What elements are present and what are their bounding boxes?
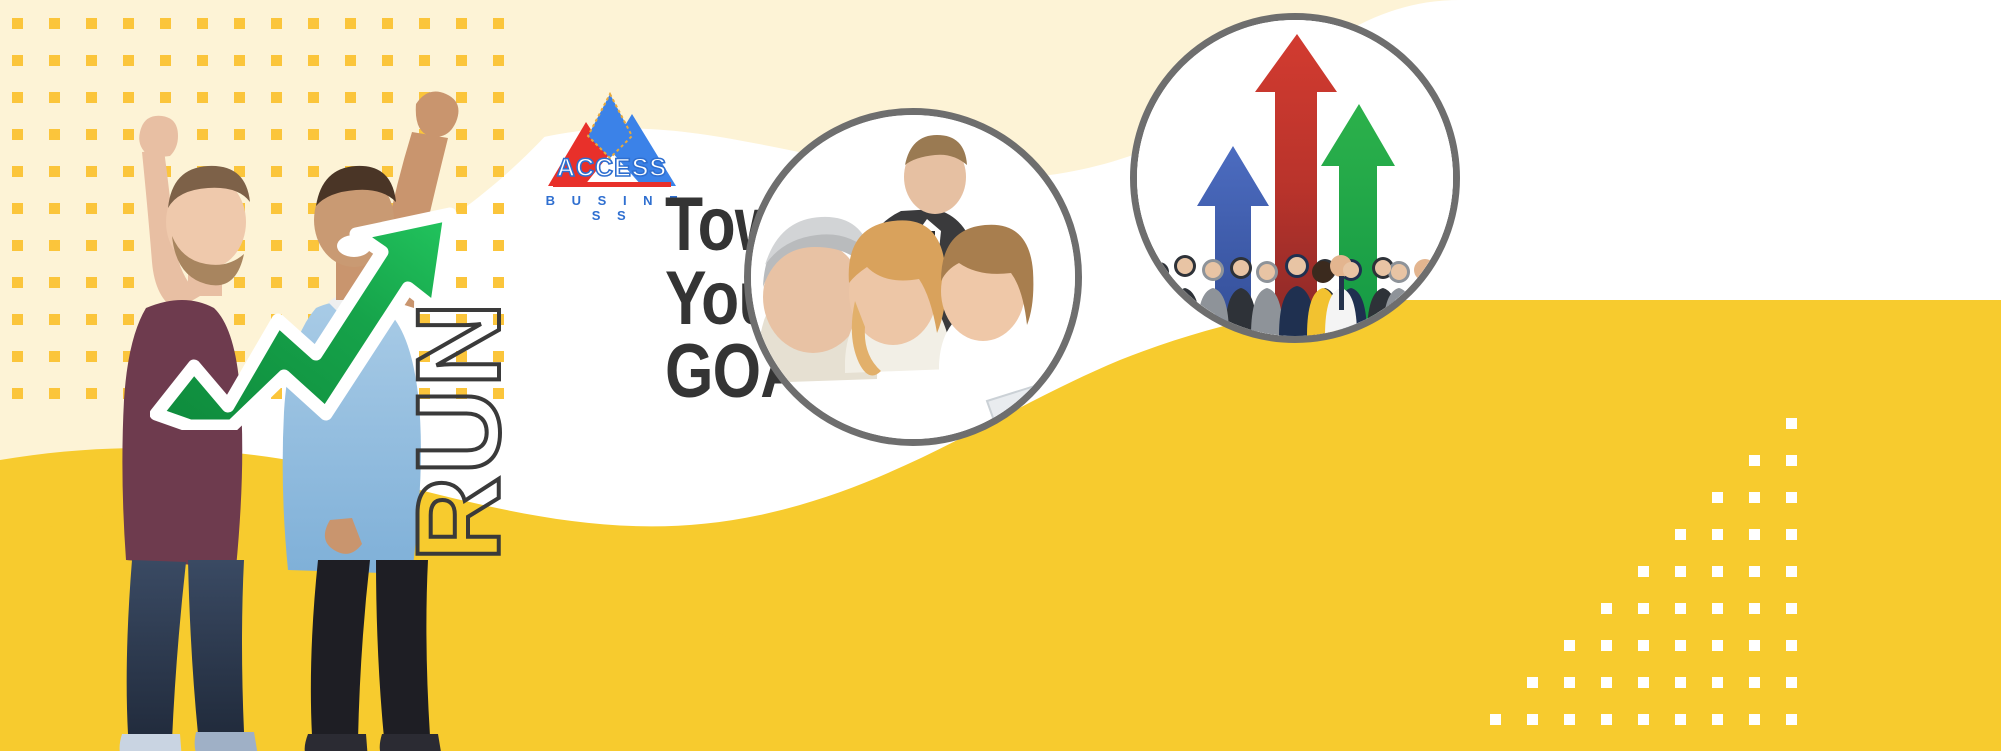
decorative-dot: [1564, 640, 1575, 651]
decorative-dot: [1638, 566, 1649, 577]
decorative-dot: [12, 55, 23, 66]
decorative-dot: [12, 18, 23, 29]
rotated-run-word: RUN: [400, 300, 518, 562]
decorative-dot: [12, 203, 23, 214]
decorative-dot: [1786, 603, 1797, 614]
decorative-dot: [308, 18, 319, 29]
logo-access-text: ACCESS: [536, 156, 688, 181]
decorative-dot: [1564, 677, 1575, 688]
decorative-dot: [1749, 603, 1760, 614]
decorative-dot: [1675, 529, 1686, 540]
decorative-dot: [1638, 677, 1649, 688]
decorative-dot: [234, 18, 245, 29]
decorative-dot: [1786, 455, 1797, 466]
decorative-dot: [12, 166, 23, 177]
decorative-dot: [493, 240, 504, 251]
decorative-dot: [1786, 492, 1797, 503]
decorative-dot: [49, 203, 60, 214]
decorative-dot: [1527, 677, 1538, 688]
decorative-dot: [1675, 714, 1686, 725]
decorative-dot: [1786, 714, 1797, 725]
decorative-dot: [1712, 529, 1723, 540]
decorative-dot: [1712, 603, 1723, 614]
decorative-dot: [493, 203, 504, 214]
decorative-dot: [12, 351, 23, 362]
decorative-dot: [1675, 677, 1686, 688]
decorative-dot: [1675, 640, 1686, 651]
decorative-dot: [49, 55, 60, 66]
decorative-dot: [456, 18, 467, 29]
decorative-dot: [49, 351, 60, 362]
decorative-dot: [1638, 640, 1649, 651]
decorative-dot: [49, 277, 60, 288]
decorative-dot: [1601, 677, 1612, 688]
decorative-dot: [1638, 603, 1649, 614]
decorative-dot: [1749, 566, 1760, 577]
decorative-dot: [1712, 714, 1723, 725]
decorative-dot: [493, 129, 504, 140]
decorative-dot: [12, 240, 23, 251]
decorative-dot: [12, 388, 23, 399]
decorative-dot: [49, 166, 60, 177]
decorative-dot: [493, 92, 504, 103]
decorative-dot: [1712, 640, 1723, 651]
decorative-dot: [1749, 714, 1760, 725]
decorative-dot: [1749, 455, 1760, 466]
decorative-dot: [1527, 714, 1538, 725]
decorative-dot: [493, 55, 504, 66]
decorative-dot: [493, 18, 504, 29]
circle-photo-team-meeting: [744, 108, 1082, 446]
decorative-dot: [1712, 492, 1723, 503]
decorative-dot: [12, 92, 23, 103]
decorative-dot: [1601, 640, 1612, 651]
decorative-dot: [197, 18, 208, 29]
decorative-dot: [493, 166, 504, 177]
decorative-dot: [1786, 529, 1797, 540]
decorative-dot: [49, 388, 60, 399]
decorative-dot: [1638, 714, 1649, 725]
decorative-dot: [49, 240, 60, 251]
decorative-dot: [123, 18, 134, 29]
growth-arrows-illustration: [1137, 20, 1453, 336]
decorative-dot: [49, 92, 60, 103]
decorative-dot: [160, 18, 171, 29]
white-dot-grid: [1330, 400, 2001, 751]
decorative-dot: [86, 18, 97, 29]
decorative-dot: [1786, 418, 1797, 429]
decorative-dot: [1786, 640, 1797, 651]
decorative-dot: [49, 314, 60, 325]
decorative-dot: [1749, 640, 1760, 651]
decorative-dot: [12, 129, 23, 140]
decorative-dot: [1749, 677, 1760, 688]
decorative-dot: [49, 129, 60, 140]
decorative-dot: [419, 18, 430, 29]
team-meeting-illustration: [751, 115, 1075, 439]
decorative-dot: [1601, 714, 1612, 725]
decorative-dot: [1786, 566, 1797, 577]
decorative-dot: [1712, 677, 1723, 688]
logo-red-underline: [553, 182, 671, 187]
decorative-dot: [1749, 492, 1760, 503]
decorative-dot: [493, 277, 504, 288]
decorative-dot: [1490, 714, 1501, 725]
decorative-dot: [1564, 714, 1575, 725]
decorative-dot: [12, 277, 23, 288]
decorative-dot: [345, 18, 356, 29]
marketing-banner: ACCESS B U S I N E S S RUN Towards Your …: [0, 0, 2001, 751]
decorative-dot: [12, 314, 23, 325]
decorative-dot: [1712, 566, 1723, 577]
decorative-dot: [1786, 677, 1797, 688]
decorative-dot: [1675, 603, 1686, 614]
decorative-dot: [382, 18, 393, 29]
decorative-dot: [1601, 603, 1612, 614]
decorative-dot: [49, 18, 60, 29]
decorative-dot: [1675, 566, 1686, 577]
decorative-dot: [1749, 529, 1760, 540]
business-crowd-row: [1145, 254, 1441, 336]
decorative-dot: [271, 18, 282, 29]
circle-photo-growth-arrows: [1130, 13, 1460, 343]
